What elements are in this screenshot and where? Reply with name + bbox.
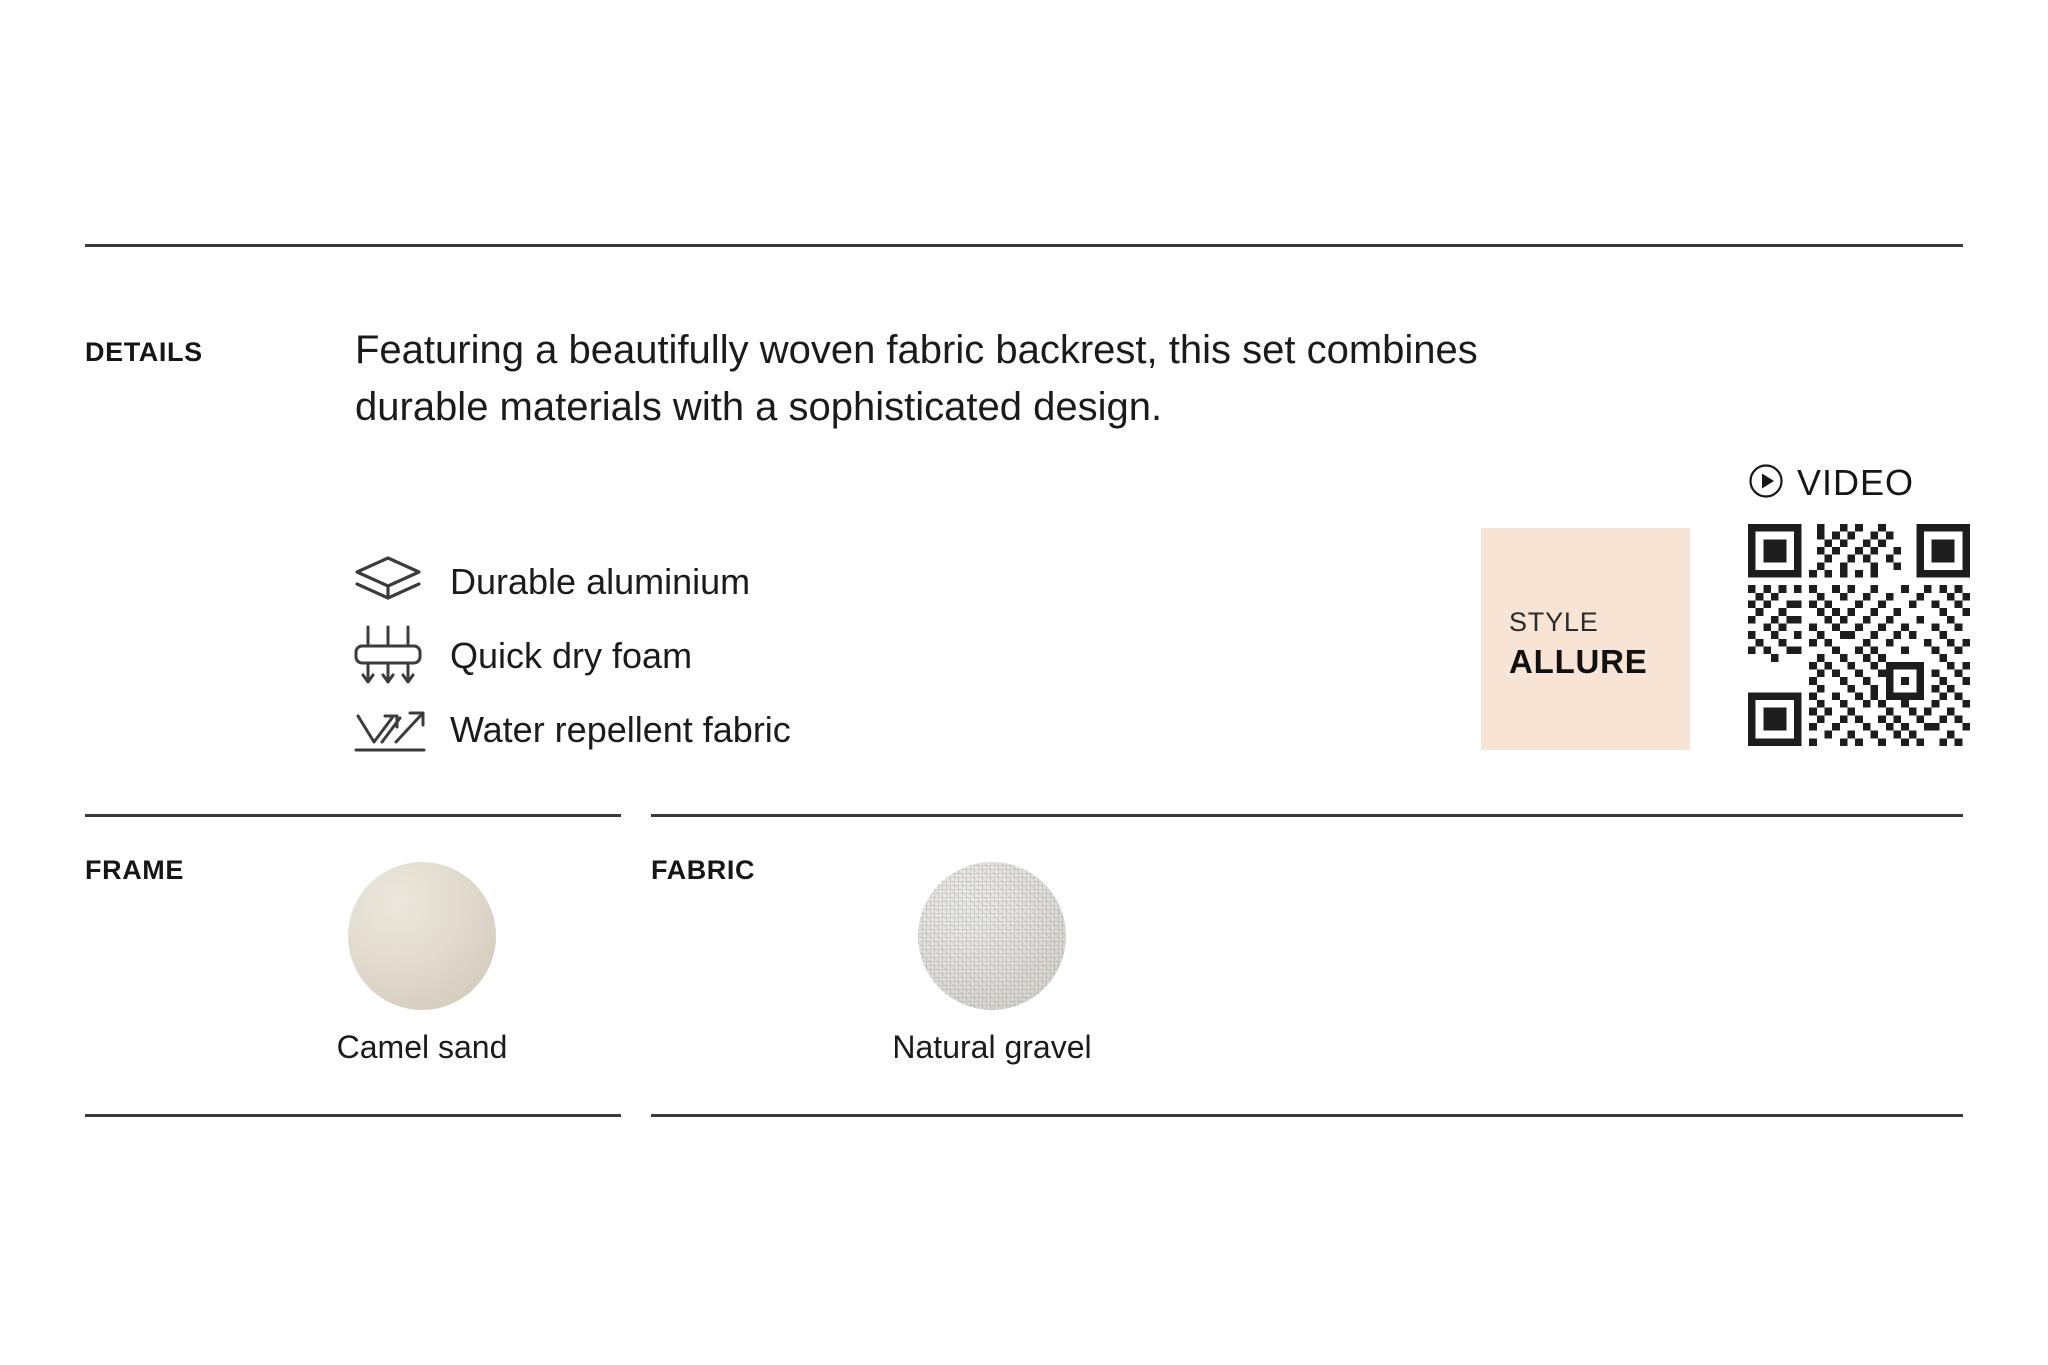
fabric-swatch-label: Natural gravel [862, 1028, 1122, 1067]
layers-icon [352, 553, 438, 611]
video-link[interactable]: VIDEO [1748, 462, 1914, 504]
feature-label: Water repellent fabric [438, 709, 791, 751]
feature-label: Quick dry foam [438, 635, 692, 677]
frame-swatch-label: Camel sand [292, 1028, 552, 1067]
frame-swatch-camel-sand[interactable] [348, 862, 496, 1010]
frame-section-label: FRAME [85, 855, 184, 886]
style-badge-name: ALLURE [1509, 643, 1648, 681]
divider-frame-bottom [85, 1114, 621, 1117]
fabric-swatch-natural-gravel[interactable] [918, 862, 1066, 1010]
quick-dry-foam-icon [352, 625, 438, 687]
feature-item-quick-dry-foam: Quick dry foam [352, 619, 791, 693]
feature-list: Durable aluminium Quick dry foam [352, 545, 791, 767]
feature-item-water-repellent-fabric: Water repellent fabric [352, 693, 791, 767]
water-repellent-icon [352, 704, 438, 756]
play-circle-icon [1748, 463, 1784, 504]
divider-frame-top [85, 814, 621, 817]
details-section-label: DETAILS [85, 337, 203, 368]
qr-code[interactable] [1748, 524, 1970, 746]
feature-label: Durable aluminium [438, 561, 750, 603]
product-description: Featuring a beautifully woven fabric bac… [355, 322, 1525, 436]
fabric-section-label: FABRIC [651, 855, 755, 886]
divider-fabric-bottom [651, 1114, 1963, 1117]
style-badge-heading: STYLE [1509, 607, 1599, 638]
fabric-swatch-item[interactable]: Natural gravel [862, 862, 1122, 1067]
divider-fabric-top [651, 814, 1963, 817]
video-label: VIDEO [1797, 462, 1914, 504]
frame-swatch-item[interactable]: Camel sand [292, 862, 552, 1067]
feature-item-durable-aluminium: Durable aluminium [352, 545, 791, 619]
product-details-sheet: DETAILS Featuring a beautifully woven fa… [0, 0, 2048, 1365]
style-badge: STYLE ALLURE [1481, 528, 1690, 750]
divider-top [85, 244, 1963, 247]
